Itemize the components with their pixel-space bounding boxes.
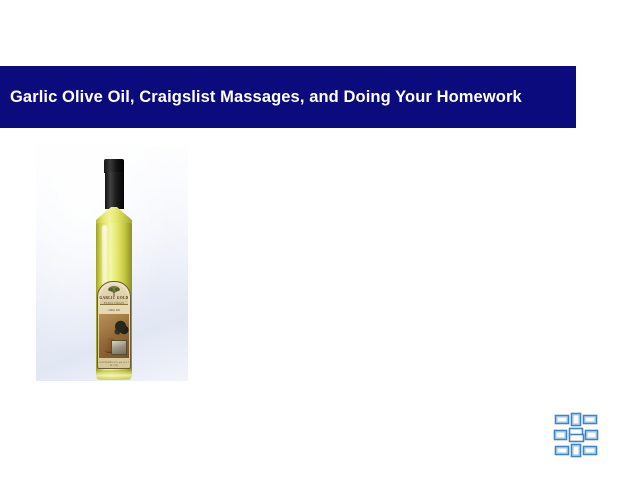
label-volume-text: CONTENTS 375 mL (12.7 FL OZ) — [98, 361, 130, 367]
bottle-neck — [105, 172, 124, 209]
label-photo-inset — [111, 340, 127, 355]
olive-tree-icon — [106, 285, 122, 296]
bottle-label: GARLIC GOLD EXTRA VIRGIN Olive Oil CONTE… — [97, 281, 131, 369]
basketweave-logo-icon — [553, 412, 601, 460]
slide-title: Garlic Olive Oil, Craigslist Massages, a… — [0, 88, 522, 106]
presentation-slide: Garlic Olive Oil, Craigslist Massages, a… — [0, 0, 640, 480]
title-banner: Garlic Olive Oil, Craigslist Massages, a… — [0, 66, 576, 128]
label-brand-name: GARLIC GOLD — [98, 296, 130, 300]
olive-oil-bottle: GARLIC GOLD EXTRA VIRGIN Olive Oil CONTE… — [92, 159, 136, 381]
bottle-cap — [104, 159, 124, 173]
label-subtitle: EXTRA VIRGIN — [98, 302, 130, 305]
bottle-base — [96, 370, 132, 380]
product-photo: GARLIC GOLD EXTRA VIRGIN Olive Oil CONTE… — [36, 145, 188, 381]
label-variety: Olive Oil — [98, 308, 130, 312]
